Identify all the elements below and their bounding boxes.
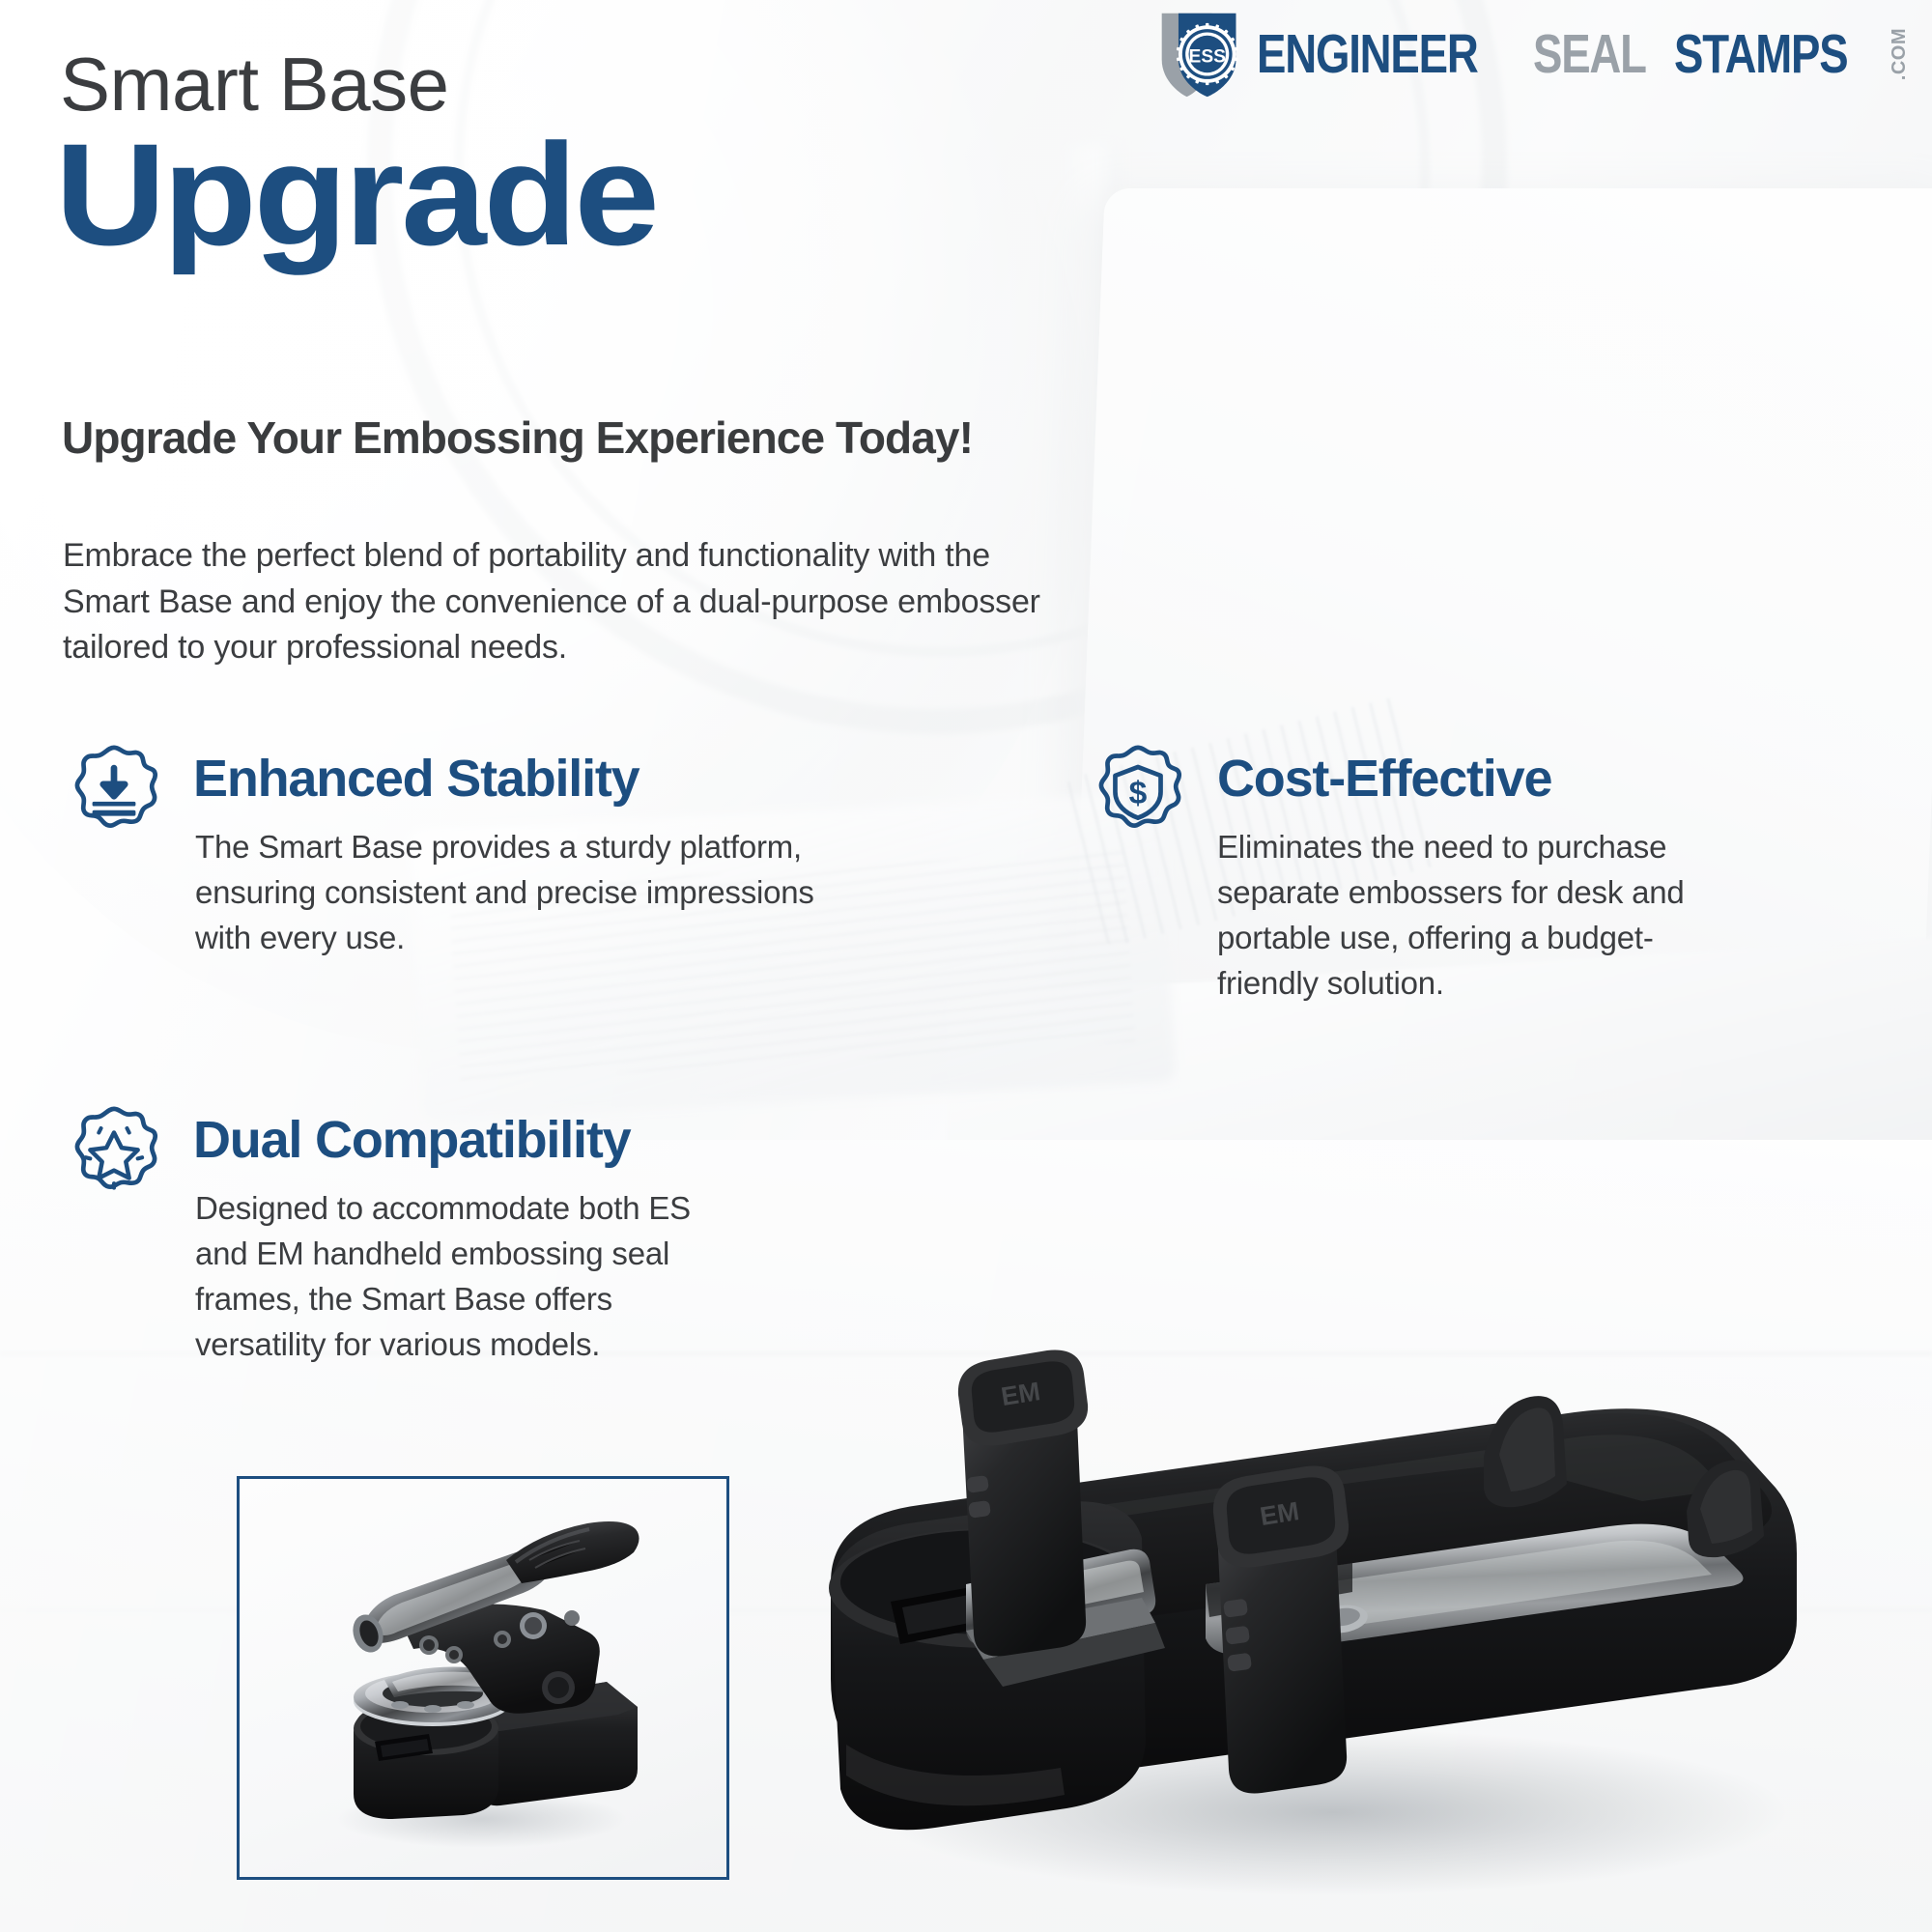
handheld-seal-on-smart-base-photo — [240, 1479, 726, 1877]
svg-text:$: $ — [1129, 776, 1148, 811]
shield-dollar-badge-icon: $ — [1084, 740, 1192, 848]
ess-seal-gear-icon: ESS — [1154, 8, 1247, 100]
subheading: Upgrade Your Embossing Experience Today! — [62, 413, 973, 463]
feature-body: The Smart Base provides a sturdy platfor… — [195, 825, 871, 961]
clamp-tab-front: EM — [1213, 1466, 1349, 1794]
eyebrow-title: Smart Base — [60, 46, 448, 122]
intro-paragraph: Embrace the perfect blend of portability… — [63, 533, 1082, 671]
brand-tld: .COM — [1889, 28, 1911, 80]
feature-title: Cost-Effective — [1217, 752, 1551, 807]
page-title: Upgrade — [55, 122, 657, 267]
star-sparkle-badge-icon — [60, 1101, 168, 1209]
stamp-press-badge-icon — [60, 740, 168, 848]
tab-label-front: EM — [1258, 1496, 1301, 1531]
feature-body: Designed to accommodate both ES and EM h… — [195, 1186, 717, 1367]
brand-wordmark: ENGINEER SEAL STAMPS — [1257, 8, 1890, 100]
brand-word-seal: SEAL — [1533, 27, 1646, 82]
logo-initials: ESS — [1188, 47, 1226, 68]
inset-product-frame — [237, 1476, 729, 1880]
infographic-canvas: ESS ENGINEER SEAL STAMPS .COM Smart Base… — [0, 0, 1932, 1932]
feature-body: Eliminates the need to purchase separate… — [1217, 825, 1739, 1006]
clamp-tab-rear: EM — [958, 1350, 1088, 1657]
brand-word-engineer: ENGINEER — [1257, 27, 1478, 82]
feature-title: Enhanced Stability — [193, 752, 639, 807]
tab-label-rear: EM — [999, 1377, 1042, 1411]
smart-base-embosser-photo: EM EM — [676, 1198, 1932, 1932]
feature-title: Dual Compatibility — [193, 1113, 630, 1168]
brand-word-stamps: STAMPS — [1674, 27, 1847, 82]
brand-logo[interactable]: ESS ENGINEER SEAL STAMPS .COM — [1154, 8, 1911, 100]
